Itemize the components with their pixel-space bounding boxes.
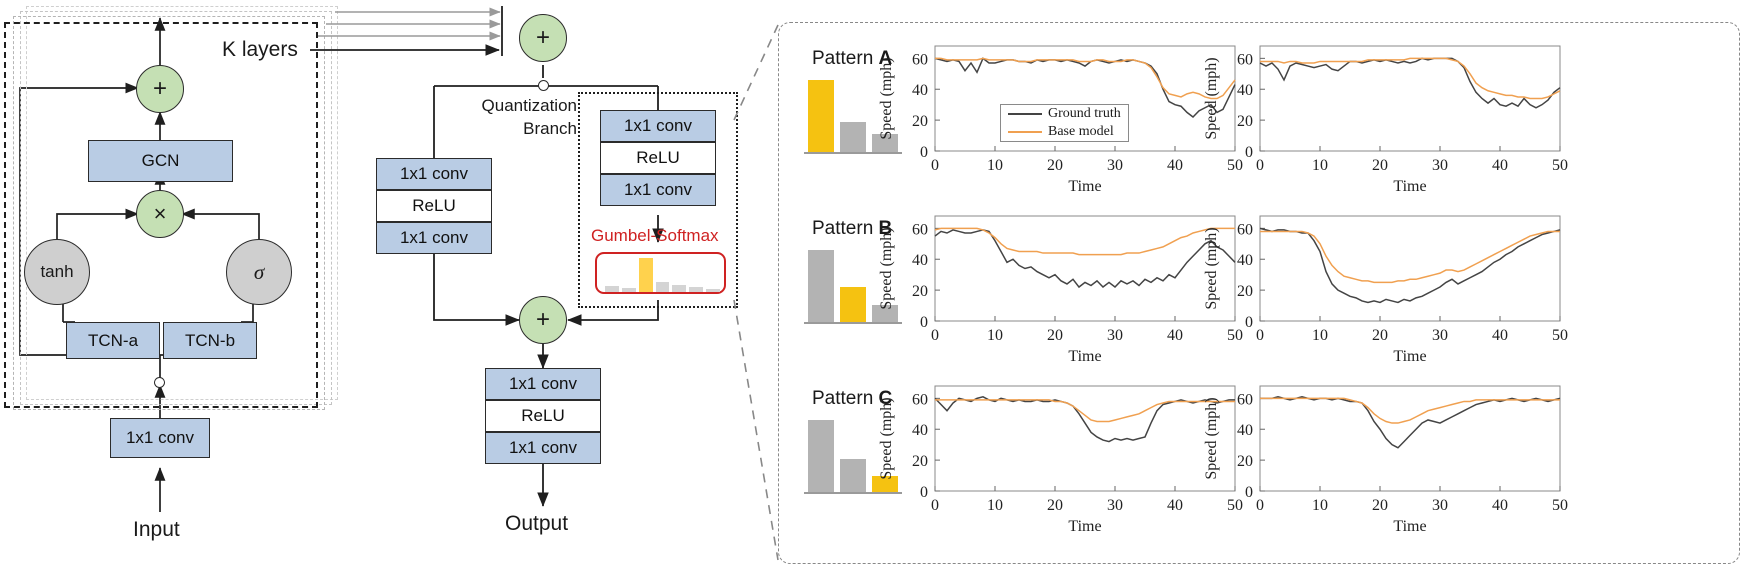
pattern-bar [808,80,834,152]
x-tick-label: 0 [931,497,939,514]
pattern-bar [840,287,866,322]
x-tick-label: 10 [987,497,1003,514]
x-axis-label: Time [1393,348,1426,365]
y-tick-label: 40 [912,82,928,99]
legend-swatch [1008,113,1042,115]
speed-chart-B-right: 020406001020304050TimeSpeed (mph) [1198,206,1588,371]
y-axis-label: Speed (mph) [1203,227,1220,309]
y-tick-label: 0 [920,314,928,331]
y-axis-label: Speed (mph) [878,57,895,139]
y-tick-label: 60 [912,391,928,408]
x-tick-label: 30 [1432,157,1448,174]
y-axis-label: Speed (mph) [1203,57,1220,139]
y-tick-label: 0 [920,144,928,161]
y-tick-label: 20 [912,453,928,470]
y-tick-label: 60 [912,221,928,238]
x-tick-label: 30 [1107,497,1123,514]
x-tick-label: 50 [1552,157,1568,174]
x-tick-label: 50 [1552,327,1568,344]
x-tick-label: 20 [1047,327,1063,344]
y-tick-label: 0 [1245,144,1253,161]
x-tick-label: 10 [1312,497,1328,514]
plot-frame [935,216,1235,321]
y-tick-label: 20 [1237,113,1253,130]
x-tick-label: 30 [1432,497,1448,514]
y-tick-label: 40 [912,422,928,439]
x-axis-label: Time [1068,348,1101,365]
speed-chart-A-right: 020406001020304050TimeSpeed (mph) [1198,36,1588,201]
y-tick-label: 0 [1245,484,1253,501]
pattern-bar [808,250,834,322]
x-tick-label: 0 [931,157,939,174]
y-tick-label: 0 [1245,314,1253,331]
x-tick-label: 30 [1107,157,1123,174]
x-tick-label: 20 [1372,497,1388,514]
x-tick-label: 0 [931,327,939,344]
x-tick-label: 10 [1312,157,1328,174]
legend-swatch [1008,131,1042,133]
y-tick-label: 60 [1237,51,1253,68]
x-tick-label: 40 [1492,327,1508,344]
pattern-bar [840,122,866,152]
y-tick-label: 20 [912,113,928,130]
pattern-bar [840,459,866,492]
pattern-title-prefix: Pattern [812,388,879,409]
x-tick-label: 10 [987,327,1003,344]
x-tick-label: 20 [1372,327,1388,344]
y-tick-label: 20 [912,283,928,300]
x-tick-label: 40 [1492,497,1508,514]
pattern-bar [808,420,834,492]
y-tick-label: 60 [912,51,928,68]
x-tick-label: 10 [987,157,1003,174]
x-axis-label: Time [1393,518,1426,535]
x-axis-label: Time [1393,178,1426,195]
plot-frame [1260,46,1560,151]
y-tick-label: 40 [1237,252,1253,269]
y-tick-label: 20 [1237,453,1253,470]
y-tick-label: 40 [1237,422,1253,439]
x-axis-label: Time [1068,518,1101,535]
y-tick-label: 60 [1237,221,1253,238]
x-tick-label: 40 [1492,157,1508,174]
legend-item: Ground truth [1001,105,1128,123]
x-tick-label: 30 [1107,327,1123,344]
y-tick-label: 20 [1237,283,1253,300]
x-tick-label: 40 [1167,327,1183,344]
y-tick-label: 60 [1237,391,1253,408]
chart-legend: Ground truthBase model [1000,104,1129,142]
x-tick-label: 20 [1047,497,1063,514]
y-axis-label: Speed (mph) [1203,397,1220,479]
legend-label: Base model [1048,124,1114,140]
y-tick-label: 0 [920,484,928,501]
x-tick-label: 10 [1312,327,1328,344]
pattern-title-prefix: Pattern [812,218,879,239]
y-axis-label: Speed (mph) [878,227,895,309]
y-tick-label: 40 [1237,82,1253,99]
x-tick-label: 30 [1432,327,1448,344]
plot-frame [1260,386,1560,491]
pattern-title-prefix: Pattern [812,48,879,69]
x-tick-label: 40 [1167,157,1183,174]
y-tick-label: 40 [912,252,928,269]
legend-label: Ground truth [1048,106,1121,122]
speed-chart-C-right: 020406001020304050TimeSpeed (mph) [1198,376,1588,541]
legend-item: Base model [1001,123,1128,141]
x-tick-label: 40 [1167,497,1183,514]
x-tick-label: 0 [1256,497,1264,514]
y-axis-label: Speed (mph) [878,397,895,479]
x-tick-label: 0 [1256,327,1264,344]
x-tick-label: 50 [1552,497,1568,514]
x-tick-label: 20 [1047,157,1063,174]
x-tick-label: 0 [1256,157,1264,174]
x-tick-label: 20 [1372,157,1388,174]
x-axis-label: Time [1068,178,1101,195]
